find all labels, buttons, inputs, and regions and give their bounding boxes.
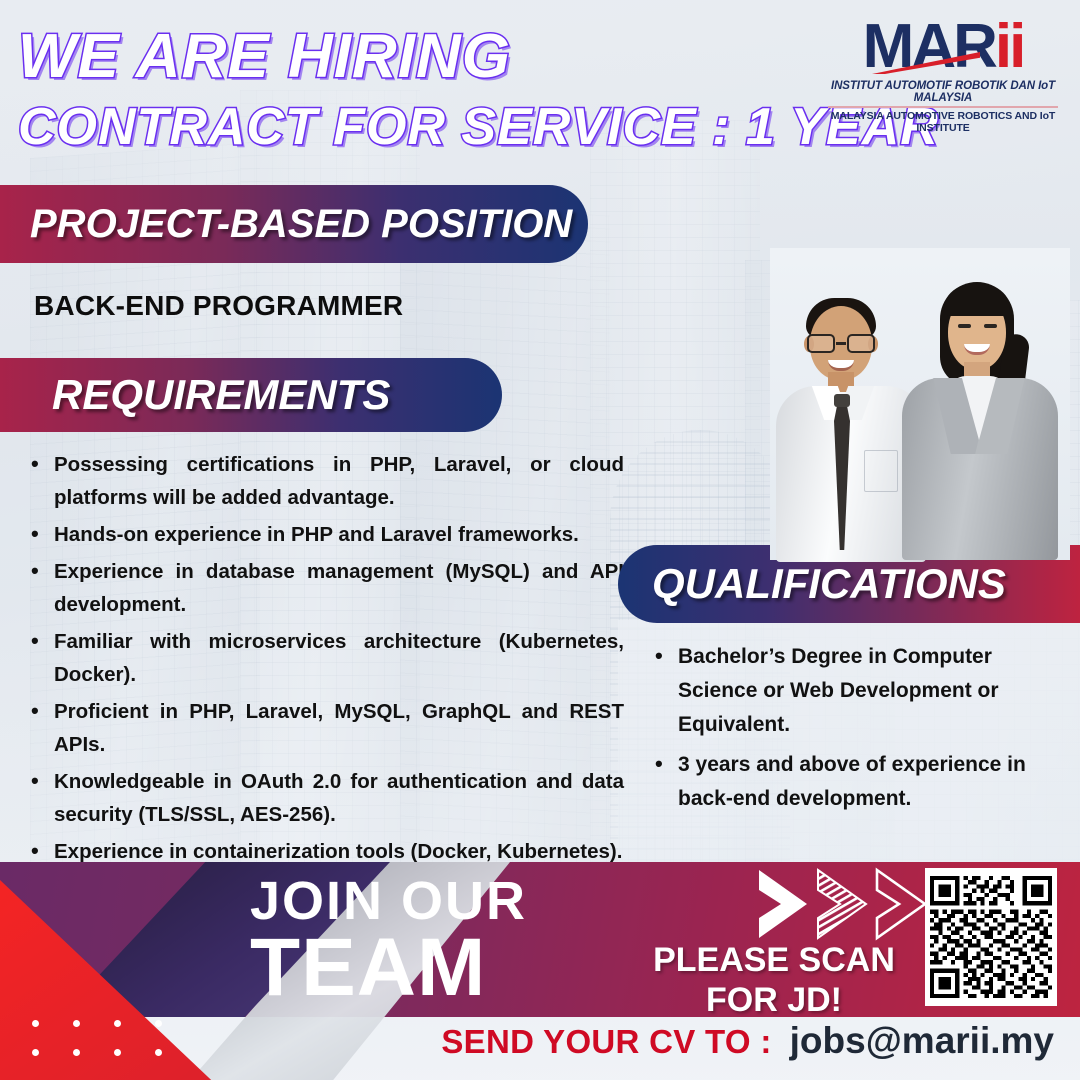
marii-logo: MARii INSTITUT AUTOMOTIF ROBOTIK DAN IoT… xyxy=(828,16,1058,134)
list-item: Hands-on experience in PHP and Laravel f… xyxy=(26,518,624,551)
list-item: Possessing certifications in PHP, Larave… xyxy=(26,448,624,514)
requirements-list: Possessing certifications in PHP, Larave… xyxy=(26,448,624,868)
headline-line-2: CONTRACT FOR SERVICE : 1 YEAR xyxy=(18,96,939,158)
list-item: Familiar with microservices architecture… xyxy=(26,625,624,691)
scan-line-1: PLEASE SCAN xyxy=(648,940,900,980)
person-female xyxy=(902,272,1058,560)
logo-tagline-en: MALAYSIA AUTOMOTIVE ROBOTICS AND IoT INS… xyxy=(828,110,1058,134)
position-banner: PROJECT-BASED POSITION xyxy=(0,185,588,263)
qualifications-section: Bachelor’s Degree in Computer Science or… xyxy=(650,640,1070,822)
qr-code-image xyxy=(930,873,1052,1001)
list-item: Knowledgeable in OAuth 2.0 for authentic… xyxy=(26,765,624,831)
glasses-icon xyxy=(806,334,876,354)
headline-line-1: WE ARE HIRING xyxy=(18,22,939,92)
qr-code[interactable] xyxy=(925,868,1057,1006)
list-item: Proficient in PHP, Laravel, MySQL, Graph… xyxy=(26,695,624,761)
logo-mark: MARii xyxy=(828,16,1058,78)
scan-line-2: FOR JD! xyxy=(648,980,900,1020)
list-item: Experience in database management (MySQL… xyxy=(26,555,624,621)
requirements-heading: REQUIREMENTS xyxy=(52,371,390,419)
cv-email[interactable]: jobs@marii.my xyxy=(790,1020,1054,1062)
join-us-text: JOIN OUR TEAM xyxy=(250,872,527,1010)
chevron-arrows xyxy=(755,866,929,942)
chevron-solid-icon xyxy=(755,866,811,942)
requirements-section: Possessing certifications in PHP, Larave… xyxy=(26,448,624,872)
requirements-heading-banner: REQUIREMENTS xyxy=(0,358,502,432)
job-poster: WE ARE HIRING CONTRACT FOR SERVICE : 1 Y… xyxy=(0,0,1080,1080)
logo-name-accent: ii xyxy=(995,12,1023,81)
logo-name-main: MAR xyxy=(863,12,995,81)
qualifications-list: Bachelor’s Degree in Computer Science or… xyxy=(650,640,1070,816)
chevron-striped-icon xyxy=(814,866,870,942)
headline: WE ARE HIRING CONTRACT FOR SERVICE : 1 Y… xyxy=(18,22,939,158)
logo-wordmark: MARii xyxy=(828,16,1058,78)
list-item: 3 years and above of experience in back-… xyxy=(650,748,1070,816)
position-banner-label: PROJECT-BASED POSITION xyxy=(30,202,572,247)
cv-submission-line: SEND YOUR CV TO : jobs@marii.my xyxy=(0,1020,1080,1062)
list-item: Bachelor’s Degree in Computer Science or… xyxy=(650,640,1070,742)
logo-tagline-bm: INSTITUT AUTOMOTIF ROBOTIK DAN IoT MALAY… xyxy=(828,80,1058,104)
chevron-outline-icon xyxy=(873,866,929,942)
job-title: BACK-END PROGRAMMER xyxy=(34,290,403,322)
cv-label: SEND YOUR CV TO : xyxy=(441,1023,771,1061)
join-line-2: TEAM xyxy=(250,926,527,1010)
qualifications-heading: QUALIFICATIONS xyxy=(652,560,1006,608)
scan-instruction: PLEASE SCAN FOR JD! xyxy=(648,940,900,1020)
logo-divider xyxy=(828,106,1058,108)
team-photo xyxy=(770,248,1070,560)
